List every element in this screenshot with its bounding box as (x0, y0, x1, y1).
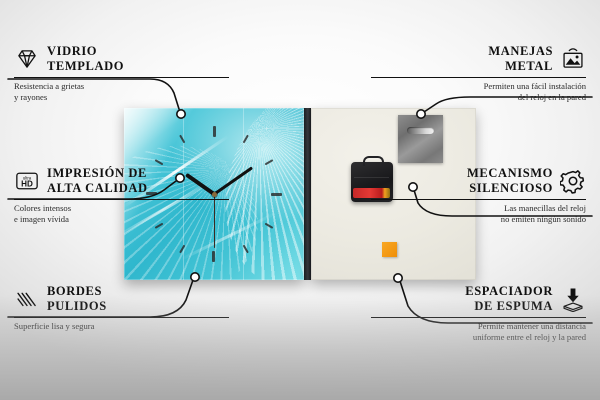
feature-title-line1: VIDRIO (47, 44, 124, 59)
metal-hanger-plate (398, 115, 443, 163)
svg-text:HD: HD (21, 179, 33, 188)
feature-mecanismo-silencioso: MECANISMO SILENCIOSO Las manecillas del … (371, 166, 586, 226)
infographic-poster: VIDRIO TEMPLADO Resistencia a grietas y … (0, 0, 600, 400)
divider (14, 77, 229, 78)
feature-desc-line1: Resistencia a grietas (14, 81, 229, 93)
divider (371, 317, 586, 318)
feature-manejas-metal: MANEJAS METAL Permiten una fácil instala… (371, 44, 586, 104)
feature-desc-line1: Colores intensos (14, 203, 229, 215)
feature-desc-line2: del reloj en la pared (371, 92, 586, 104)
clock-side-edge (304, 108, 311, 280)
polished-edges-icon (14, 286, 40, 312)
hanger-keyhole-slot (407, 127, 435, 134)
wall-hanger-icon (560, 46, 586, 72)
feature-vidrio-templado: VIDRIO TEMPLADO Resistencia a grietas y … (14, 44, 229, 104)
feature-bordes-pulidos: BORDES PULIDOS Superficie lisa y segura (14, 284, 229, 332)
divider (14, 199, 229, 200)
feature-title-line1: MANEJAS (488, 44, 553, 59)
feature-title-line2: METAL (488, 59, 553, 74)
glass-seam (243, 108, 244, 280)
feature-desc-line2: y rayones (14, 92, 229, 104)
mechanism-hook (363, 156, 384, 166)
feature-title-line2: ALTA CALIDAD (47, 181, 148, 196)
feature-title-line1: BORDES (47, 284, 107, 299)
feature-title-line2: SILENCIOSO (467, 181, 553, 196)
feature-desc-line1: Permite mantener una distancia (371, 321, 586, 333)
feature-title-line2: TEMPLADO (47, 59, 124, 74)
feature-desc-line1: Permiten una fácil instalación (371, 81, 586, 93)
divider (371, 77, 586, 78)
divider (371, 199, 586, 200)
feature-desc-line2: no emiten ningún sonido (371, 214, 586, 226)
feature-desc-line2: uniforme entre el reloj y la pared (371, 332, 586, 344)
gear-icon (560, 168, 586, 194)
diamond-icon (14, 46, 40, 72)
foam-spacer-icon (560, 286, 586, 312)
feature-desc-line1: Superficie lisa y segura (14, 321, 229, 333)
feature-title-line2: PULIDOS (47, 299, 107, 314)
feature-desc-line2: e imagen vívida (14, 214, 229, 226)
divider (14, 317, 229, 318)
feature-espaciador-espuma: ESPACIADOR DE ESPUMA Permite mantener un… (371, 284, 586, 344)
foam-spacer (382, 242, 397, 257)
feature-title-line1: MECANISMO (467, 166, 553, 181)
feature-desc-line1: Las manecillas del reloj (371, 203, 586, 215)
feature-title-line1: ESPACIADOR (465, 284, 553, 299)
feature-title-line2: DE ESPUMA (465, 299, 553, 314)
feature-impresion-alta-calidad: ultra HD IMPRESIÓN DE ALTA CALIDAD Color… (14, 166, 229, 226)
feature-title-line1: IMPRESIÓN DE (47, 166, 148, 181)
ultra-hd-icon: ultra HD (14, 168, 40, 194)
